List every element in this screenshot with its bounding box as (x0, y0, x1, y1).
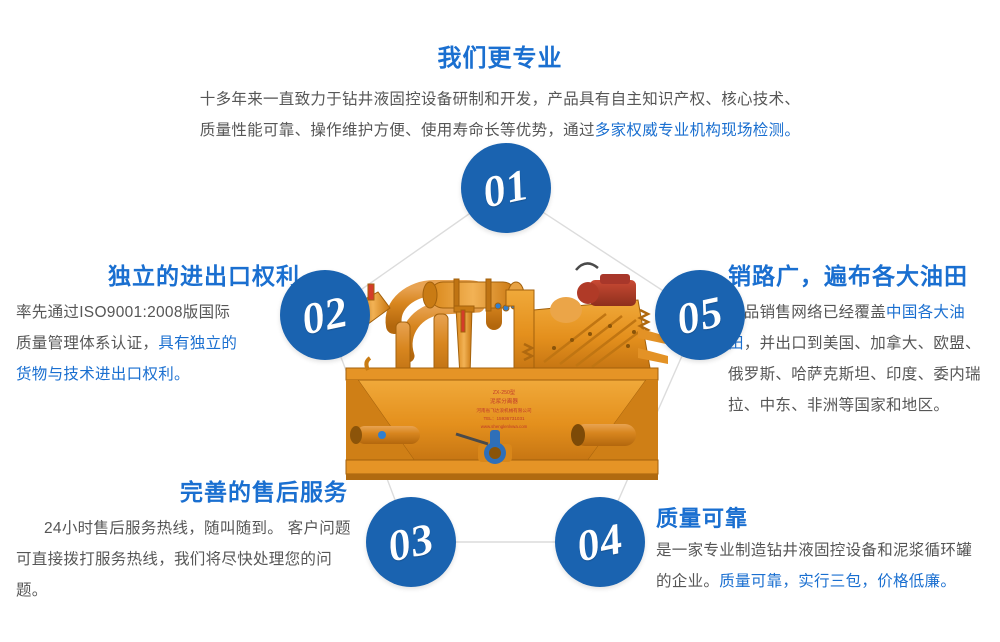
badge-label-03: 03 (383, 512, 439, 571)
plate-line-5: www.shenglenlvwa.com (481, 424, 528, 429)
feature-body-02-line1: 率先通过ISO9001:2008版国际 (16, 304, 230, 321)
feature-title-05: 销路广，遍布各大油田 (728, 262, 990, 291)
feature-body-05: 产品销售网络已经覆盖中国各大油田，并出口到美国、加拿大、欧盟、俄罗斯、哈萨克斯坦… (728, 297, 990, 421)
badge-label-02: 02 (297, 285, 353, 344)
feature-body-03: 24小时售后服务热线，随叫随到。 客户问题可直接拨打服务热线，我们将尽快处理您的… (16, 513, 356, 606)
feature-body-04: 是一家专业制造钻井液固控设备和泥浆循环罐的企业。质量可靠，实行三包，价格低廉。 (656, 535, 986, 597)
feature-body-01-line2: 质量性能可靠、操作维护方便、使用寿命长等优势，通过 (200, 122, 595, 139)
feature-title-01: 我们更专业 (150, 44, 850, 74)
plate-line-2: 泥浆分离器 (490, 397, 518, 405)
feature-body-01: 十多年来一直致力于钻井液固控设备研制和开发，产品具有自主知识产权、核心技术、 质… (150, 84, 850, 146)
product-image-mud-separator: ZX-250型 泥浆分离器 河南省飞达浪机械有限公司 TEL：159367310… (338, 248, 674, 500)
feature-body-05-text1: 产品销售网络已经覆盖 (728, 304, 886, 321)
feature-title-03: 完善的售后服务 (16, 478, 356, 507)
promo-infographic: ZX-250型 泥浆分离器 河南省飞达浪机械有限公司 TEL：159367310… (0, 0, 1000, 642)
feature-block-01: 我们更专业 十多年来一直致力于钻井液固控设备研制和开发，产品具有自主知识产权、核… (150, 44, 850, 146)
badge-number-01[interactable]: 01 (461, 143, 551, 233)
feature-title-02: 独立的进出口权利 (16, 262, 306, 291)
badge-number-04[interactable]: 04 (555, 497, 645, 587)
plate-line-1: ZX-250型 (493, 388, 515, 396)
feature-highlight-02a: 具有独立的 (158, 335, 237, 352)
feature-highlight-01: 多家权威专业机构现场检测。 (595, 122, 800, 139)
feature-block-03: 完善的售后服务 24小时售后服务热线，随叫随到。 客户问题可直接拨打服务热线，我… (16, 478, 356, 606)
feature-highlight-02b: 货物与技术进出口权利。 (16, 366, 190, 383)
feature-body-02: 率先通过ISO9001:2008版国际 质量管理体系认证，具有独立的 货物与技术… (16, 297, 306, 390)
feature-body-05-text2: ，并出口到美国、加拿大、欧盟、俄罗斯、哈萨克斯坦、印度、委内瑞拉、中东、非洲等国… (728, 335, 981, 414)
feature-block-02: 独立的进出口权利 率先通过ISO9001:2008版国际 质量管理体系认证，具有… (16, 262, 306, 390)
badge-label-05: 05 (672, 285, 728, 344)
feature-block-05: 销路广，遍布各大油田 产品销售网络已经覆盖中国各大油田，并出口到美国、加拿大、欧… (728, 262, 990, 421)
badge-number-02[interactable]: 02 (280, 270, 370, 360)
feature-block-04: 质量可靠 是一家专业制造钻井液固控设备和泥浆循环罐的企业。质量可靠，实行三包，价… (656, 505, 986, 597)
feature-title-04: 质量可靠 (656, 505, 986, 533)
feature-body-01-line1: 十多年来一直致力于钻井液固控设备研制和开发，产品具有自主知识产权、核心技术、 (200, 91, 800, 108)
badge-number-05[interactable]: 05 (655, 270, 745, 360)
badge-label-01: 01 (478, 158, 534, 217)
badge-label-04: 04 (572, 512, 628, 571)
badge-number-03[interactable]: 03 (366, 497, 456, 587)
plate-line-3: 河南省飞达浪机械有限公司 (476, 407, 532, 414)
feature-highlight-04: 质量可靠，实行三包，价格低廉。 (719, 573, 956, 590)
feature-body-02-line2: 质量管理体系认证， (16, 335, 158, 352)
plate-line-4: TEL：15936731031 (483, 416, 525, 421)
